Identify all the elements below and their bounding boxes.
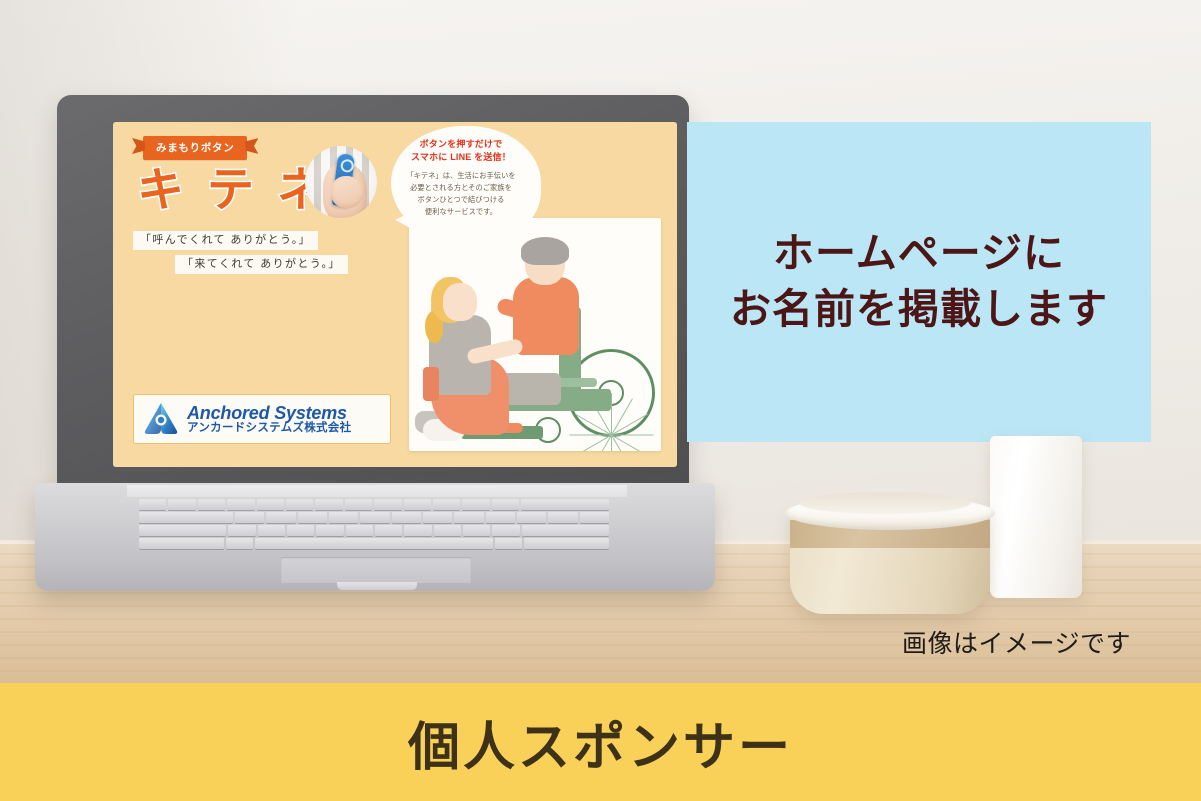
white-cylinder-vase: [990, 436, 1082, 598]
key[interactable]: [329, 512, 358, 523]
blue-callout-line-2: お名前を掲載します: [730, 282, 1108, 338]
service-copy: ボタンを押すだけで スマホに LINE を送信！ 「キテネ」は、生活にお手伝いを…: [401, 138, 521, 218]
key[interactable]: [423, 512, 452, 523]
key[interactable]: [548, 512, 577, 523]
brand-wordmark-text: キ テ ネ: [137, 163, 329, 216]
key[interactable]: [315, 499, 342, 510]
key[interactable]: [580, 512, 609, 523]
laptop-trackpad[interactable]: [281, 557, 471, 583]
anchor-icon: [142, 400, 180, 438]
service-description-line-4: 便利なサービスです。: [401, 206, 521, 218]
key[interactable]: [462, 499, 489, 510]
image-disclaimer-caption: 画像はイメージです: [902, 624, 1131, 660]
key[interactable]: [235, 512, 264, 523]
key[interactable]: [360, 512, 389, 523]
service-description-line-3: ボタンひとつで結びつける: [401, 194, 521, 206]
bottom-banner: 個人スポンサー: [0, 683, 1201, 801]
key[interactable]: [286, 499, 313, 510]
key[interactable]: [139, 525, 226, 536]
blue-callout-panel: ホームページに お名前を掲載します: [687, 122, 1151, 442]
key[interactable]: [517, 512, 546, 523]
company-name-en: Anchored Systems: [187, 404, 351, 422]
service-description: 「キテネ」は、生活にお手伝いを 必要とされる方とそのご家族を ボタンひとつで結び…: [401, 170, 521, 218]
key[interactable]: [434, 525, 461, 536]
care-illustration: [409, 218, 661, 451]
key[interactable]: [524, 538, 609, 549]
laptop: みまもりボタン キ テ ネ• 「呼んでくれて ありがとう。」 「来てくれて: [35, 95, 715, 600]
key[interactable]: [228, 525, 255, 536]
key[interactable]: [522, 525, 609, 536]
key[interactable]: [492, 499, 519, 510]
keyboard-row[interactable]: [139, 499, 609, 510]
quote-line-2: 「来てくれて ありがとう。」: [175, 255, 348, 274]
blue-callout-line-1: ホームページに: [730, 226, 1108, 282]
key[interactable]: [226, 538, 253, 549]
cup-rim: [785, 496, 995, 530]
key[interactable]: [346, 525, 373, 536]
company-logo: Anchored Systems アンカードシステムズ株式会社: [133, 394, 391, 444]
key[interactable]: [316, 525, 343, 536]
device-photo-circle: [305, 146, 377, 218]
caregiver-head: [443, 283, 477, 321]
photo-scene: みまもりボタン キ テ ネ• 「呼んでくれて ありがとう。」 「来てくれて: [0, 0, 1201, 683]
key[interactable]: [486, 512, 515, 523]
key[interactable]: [454, 512, 483, 523]
key[interactable]: [404, 525, 431, 536]
laptop-screen: みまもりボタン キ テ ネ• 「呼んでくれて ありがとう。」 「来てくれて: [113, 122, 677, 467]
presentation-slide: みまもりボタン キ テ ネ• 「呼んでくれて ありがとう。」 「来てくれて: [113, 122, 677, 467]
blue-callout-text: ホームページに お名前を掲載します: [730, 226, 1108, 338]
key[interactable]: [298, 512, 327, 523]
quote-list: 「呼んでくれて ありがとう。」 「来てくれて ありがとう。」: [133, 230, 393, 274]
elderly-hair: [521, 237, 569, 265]
bottom-banner-title: 個人スポンサー: [408, 705, 793, 780]
keyboard-row[interactable]: [139, 525, 609, 536]
key[interactable]: [495, 538, 522, 549]
service-description-line-1: 「キテネ」は、生活にお手伝いを: [401, 170, 521, 182]
key[interactable]: [257, 499, 284, 510]
spacebar-key[interactable]: [255, 538, 494, 549]
service-description-line-2: 必要とされる方とそのご家族を: [401, 182, 521, 194]
key[interactable]: [198, 499, 225, 510]
key[interactable]: [139, 538, 224, 549]
key[interactable]: [345, 499, 372, 510]
laptop-lid: みまもりボタン キ テ ネ• 「呼んでくれて ありがとう。」 「来てくれて: [57, 95, 689, 490]
key[interactable]: [258, 525, 285, 536]
ribbon-banner: みまもりボタン: [143, 136, 247, 160]
key[interactable]: [375, 525, 402, 536]
key[interactable]: [139, 499, 166, 510]
laptop-keyboard[interactable]: [139, 499, 609, 549]
laptop-front-notch: [337, 582, 417, 590]
service-headline-line-2: スマホに LINE を送信！: [401, 151, 521, 164]
service-headline-line-1: ボタンを押すだけで: [401, 138, 521, 151]
key[interactable]: [168, 499, 195, 510]
key[interactable]: [374, 499, 401, 510]
key[interactable]: [404, 499, 431, 510]
keyboard-row[interactable]: [139, 538, 609, 549]
caregiver-apron-ribbon: [423, 367, 439, 401]
key[interactable]: [392, 512, 421, 523]
cup-interior: [799, 492, 971, 514]
fingers-shape: [331, 176, 363, 208]
key[interactable]: [266, 512, 295, 523]
key[interactable]: [492, 525, 519, 536]
key[interactable]: [287, 525, 314, 536]
key[interactable]: [227, 499, 254, 510]
key[interactable]: [521, 499, 609, 510]
key[interactable]: [433, 499, 460, 510]
keyboard-row[interactable]: [139, 512, 609, 523]
key[interactable]: [463, 525, 490, 536]
service-headline: ボタンを押すだけで スマホに LINE を送信！: [401, 138, 521, 164]
company-name-block: Anchored Systems アンカードシステムズ株式会社: [187, 404, 351, 435]
quote-line-1: 「呼んでくれて ありがとう。」: [133, 231, 318, 250]
company-name-jp: アンカードシステムズ株式会社: [187, 423, 351, 435]
ceramic-cup: [790, 506, 990, 614]
laptop-hinge-strip: [127, 485, 627, 497]
key[interactable]: [139, 512, 233, 523]
